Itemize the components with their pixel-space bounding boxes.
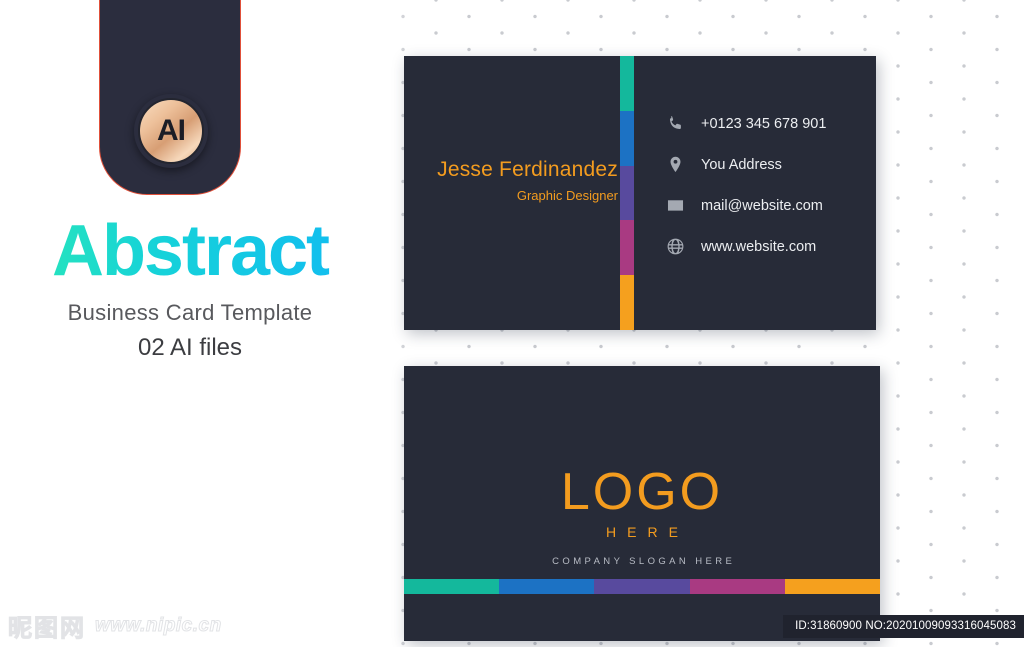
site-watermark-url: www.nipic.cn	[95, 615, 222, 637]
card-person-role: Graphic Designer	[437, 188, 618, 203]
logo-text: LOGO	[404, 466, 880, 518]
contact-row-phone: +0123 345 678 901	[666, 114, 826, 133]
stripe-segment-teal	[620, 56, 634, 111]
stripe-segment-magenta	[690, 579, 785, 594]
business-card-front: Jesse Ferdinandez Graphic Designer +0123…	[404, 56, 876, 330]
card-identity-block: Jesse Ferdinandez Graphic Designer	[437, 158, 618, 203]
phone-icon	[666, 114, 685, 133]
site-watermark: 昵图网 www.nipic.cn	[8, 608, 222, 643]
company-slogan: COMPANY SLOGAN HERE	[404, 556, 880, 567]
asset-id-badge: ID:31860900 NO:20201009093316045083	[783, 615, 1024, 638]
ai-badge: AI	[134, 94, 208, 168]
stripe-segment-blue	[620, 111, 634, 166]
business-card-back: LOGO HERE COMPANY SLOGAN HERE	[404, 366, 880, 641]
horizontal-color-stripe	[404, 579, 880, 594]
stripe-segment-magenta	[620, 220, 634, 275]
contact-text-address: You Address	[701, 157, 782, 173]
contact-row-address: You Address	[666, 155, 826, 174]
stripe-segment-purple	[594, 579, 689, 594]
card-person-name: Jesse Ferdinandez	[437, 158, 618, 182]
globe-icon	[666, 237, 685, 256]
page-title: Abstract	[0, 215, 380, 287]
promo-files-note: 02 AI files	[0, 334, 380, 362]
card-back-content: LOGO HERE COMPANY SLOGAN HERE	[404, 366, 880, 641]
contact-text-website: www.website.com	[701, 239, 816, 255]
contact-row-email: mail@website.com	[666, 196, 826, 215]
vertical-color-stripe	[620, 56, 634, 330]
screenshot-stage: AI Abstract Business Card Template 02 AI…	[0, 0, 1024, 647]
stripe-segment-teal	[404, 579, 499, 594]
logo-subtext: HERE	[404, 524, 880, 540]
stripe-segment-orange	[620, 275, 634, 330]
location-pin-icon	[666, 155, 685, 174]
contact-text-email: mail@website.com	[701, 198, 823, 214]
promo-subtitle: Business Card Template	[0, 300, 380, 326]
stripe-segment-orange	[785, 579, 880, 594]
stripe-segment-blue	[499, 579, 594, 594]
envelope-icon	[666, 196, 685, 215]
stripe-segment-purple	[620, 166, 634, 221]
site-watermark-logo: 昵图网	[8, 608, 86, 643]
contact-text-phone: +0123 345 678 901	[701, 116, 826, 132]
promo-panel: AI Abstract Business Card Template 02 AI…	[0, 0, 380, 647]
contact-row-website: www.website.com	[666, 237, 826, 256]
ai-badge-label: AI	[157, 116, 185, 146]
contact-list: +0123 345 678 901 You Address mail@websi…	[666, 114, 826, 256]
